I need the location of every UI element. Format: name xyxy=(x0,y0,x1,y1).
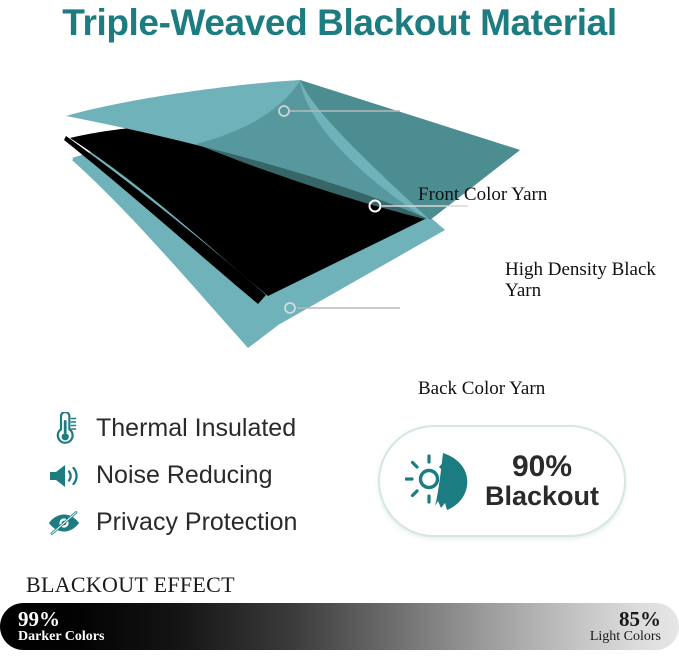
thermometer-icon xyxy=(44,409,84,449)
blackout-effect-heading: BLACKOUT EFFECT xyxy=(26,572,235,598)
badge-text: 90% Blackout xyxy=(485,452,599,510)
gradient-bar-left-percent: 99% xyxy=(18,608,104,630)
gradient-bar-left-sublabel: Darker Colors xyxy=(18,630,104,645)
sun-behind-curtain-icon xyxy=(405,446,475,516)
feature-item-thermal-insulated: Thermal Insulated xyxy=(44,406,374,451)
gradient-bar-right-sublabel: Light Colors xyxy=(590,630,661,645)
fabric-diagram: Front Color Yarn High Density Black Yarn… xyxy=(0,78,679,348)
feature-label-noise-reducing: Noise Reducing xyxy=(96,461,273,490)
badge-blackout-label: Blackout xyxy=(485,483,599,511)
feature-label-thermal-insulated: Thermal Insulated xyxy=(96,414,296,443)
feature-item-privacy-protection: Privacy Protection xyxy=(44,500,374,545)
blackout-effect-gradient-bar: 99% Darker Colors 85% Light Colors xyxy=(0,603,679,650)
page-title: Triple-Weaved Blackout Material xyxy=(0,2,679,44)
feature-label-privacy-protection: Privacy Protection xyxy=(96,508,297,537)
eye-slash-icon xyxy=(44,503,84,543)
blackout-badge: 90% Blackout xyxy=(378,425,626,537)
callout-label-back-color-yarn: Back Color Yarn xyxy=(418,378,545,399)
feature-list: Thermal Insulated Noise Reducing Privacy… xyxy=(44,406,374,547)
badge-percent-value: 90% xyxy=(485,452,599,483)
gradient-bar-right-stat: 85% Light Colors xyxy=(590,608,661,645)
callout-label-high-density-black-yarn: High Density Black Yarn xyxy=(505,259,665,302)
gradient-bar-right-percent: 85% xyxy=(590,608,661,630)
feature-item-noise-reducing: Noise Reducing xyxy=(44,453,374,498)
callout-label-front-color-yarn: Front Color Yarn xyxy=(418,184,547,205)
gradient-bar-left-stat: 99% Darker Colors xyxy=(18,608,104,645)
speaker-sound-icon xyxy=(44,456,84,496)
